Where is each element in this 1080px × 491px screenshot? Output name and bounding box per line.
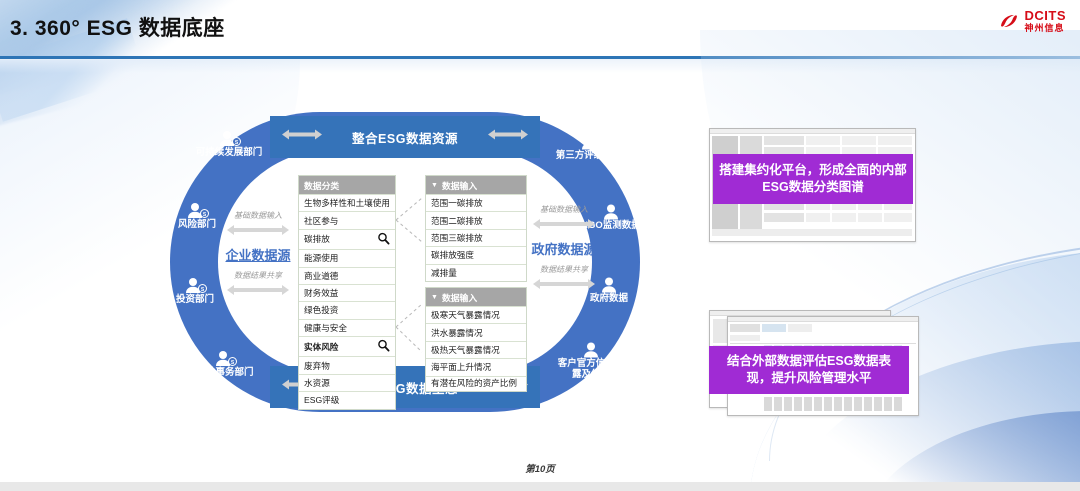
persona-label: 客户官方信息披露及估测 [558,358,625,380]
flow-share-note: 数据结果共享 [518,264,610,275]
flow-arrow-share-icon [212,283,304,301]
page-title: 3. 360° ESG 数据底座 [10,12,225,42]
table-row[interactable]: 能源使用 [299,249,395,266]
right-swoosh-1 [700,30,1080,491]
table-row[interactable]: 极热天气暴露情况 [426,341,526,358]
table-row[interactable]: 社区参与 [299,211,395,228]
callout-internal-platform: 搭建集约化平台，形成全面的内部ESG数据分类图谱 [709,128,914,240]
table-row[interactable]: ESG评级 [299,391,395,408]
title-divider-glow [0,59,1080,73]
table-header-input-physical: ▼ 数据输入 [426,288,526,306]
flow-input-note: 基础数据输入 [212,210,304,221]
magnifier-icon[interactable] [377,232,390,247]
right-swoosh-4 [860,411,1080,491]
caret-down-icon: ▼ [431,182,438,189]
persona-label: 投资部门 [176,294,214,305]
flow-arrow-input-icon [212,223,304,241]
callout-banner-2: 结合外部数据评估ESG数据表现，提升风险管理水平 [709,346,909,394]
enterprise-data-source-flow: 基础数据输入 企业数据源 数据结果共享 [212,210,304,305]
table-row[interactable]: 绿色投资 [299,301,395,318]
flow-arrow-input-icon [518,217,610,235]
esg-data-foundation-diagram: 整合ESG数据资源 形成ESG数据生态 S 可持续发展部门 S 风险部门 S 投… [170,112,640,412]
table-row[interactable]: 生物多样性和土壤使用 [299,194,395,211]
table-data-input-physical-risk[interactable]: ▼ 数据输入 极寒天气暴露情况 洪水暴露情况 极热天气暴露情况 海平面上升情况 … [425,287,527,392]
government-data-source-flow: 基础数据输入 政府数据源 数据结果共享 [518,204,610,299]
dcits-swirl-icon [998,10,1020,32]
table-header-classification: 数据分类 [299,176,395,194]
brand-name-cn: 神州信息 [1025,24,1067,33]
brand-logo: DCITS 神州信息 [998,9,1067,33]
caret-down-icon: ▼ [431,294,438,301]
table-row[interactable]: 有潜在风险的资产比例 [426,376,526,391]
persona-sustainability-dept: S 可持续发展部门 [192,130,266,159]
table-row[interactable]: 极寒天气暴露情况 [426,306,526,323]
footer-rule [0,482,1080,491]
flow-arrow-share-icon [518,277,610,295]
thumbnail-titlebar [728,317,918,322]
left-double-arrow-icon [282,128,322,147]
table-row[interactable]: 碳排放 [299,229,395,249]
table-row[interactable]: 实体风险 [299,336,395,356]
table-data-input-carbon[interactable]: ▼ 数据输入 范围一碳排放 范围二碳排放 范围三碳排放 碳排放强度 减排量 [425,175,527,282]
thumbnail-titlebar [710,129,915,134]
table-row[interactable]: 海平面上升情况 [426,358,526,375]
enterprise-data-source-title: 企业数据源 [212,245,304,264]
flow-input-note: 基础数据输入 [518,204,610,215]
table-row[interactable]: 范围一碳排放 [426,194,526,211]
table-row[interactable]: 减排量 [426,264,526,281]
table-row[interactable]: 水资源 [299,374,395,391]
persona-label: 可持续发展部门 [196,147,263,158]
table-row[interactable]: 范围二碳排放 [426,211,526,228]
top-band-label: 整合ESG数据资源 [352,128,458,147]
table-row[interactable]: 废弃物 [299,356,395,373]
persona-label: 风险部门 [178,219,216,230]
persona-label: 公共事务部门 [196,367,253,378]
magnifier-icon[interactable] [377,339,390,354]
table-header-input-carbon: ▼ 数据输入 [426,176,526,194]
persona-third-party-rating: 第三方评级机构 [552,134,626,162]
top-band: 整合ESG数据资源 [270,116,540,158]
table-row[interactable]: 健康与安全 [299,319,395,336]
flow-share-note: 数据结果共享 [212,270,304,281]
persona-label: 第三方评级机构 [556,150,623,161]
table-data-classification[interactable]: 数据分类 生物多样性和土壤使用 社区参与 碳排放 能源使用 商业道德 财务效益 … [298,175,396,410]
callout-banner-1: 搭建集约化平台，形成全面的内部ESG数据分类图谱 [713,154,913,204]
persona-customer-disclosure: 客户官方信息披露及估测 [554,342,628,381]
persona-public-affairs-dept: S 公共事务部门 [188,350,262,379]
table-row[interactable]: 洪水暴露情况 [426,323,526,340]
right-double-arrow-icon [488,128,528,147]
table-row[interactable]: 商业道德 [299,267,395,284]
callout-external-assessment: 结合外部数据评估ESG数据表现，提升风险管理水平 [709,310,914,420]
table-row[interactable]: 范围三碳排放 [426,229,526,246]
table-row[interactable]: 碳排放强度 [426,246,526,263]
government-data-source-title: 政府数据源 [518,239,610,258]
brand-name-en: DCITS [1025,9,1067,22]
table-row[interactable]: 财务效益 [299,284,395,301]
page-number: 第10页 [0,461,1080,475]
title-divider-line [0,56,1080,59]
